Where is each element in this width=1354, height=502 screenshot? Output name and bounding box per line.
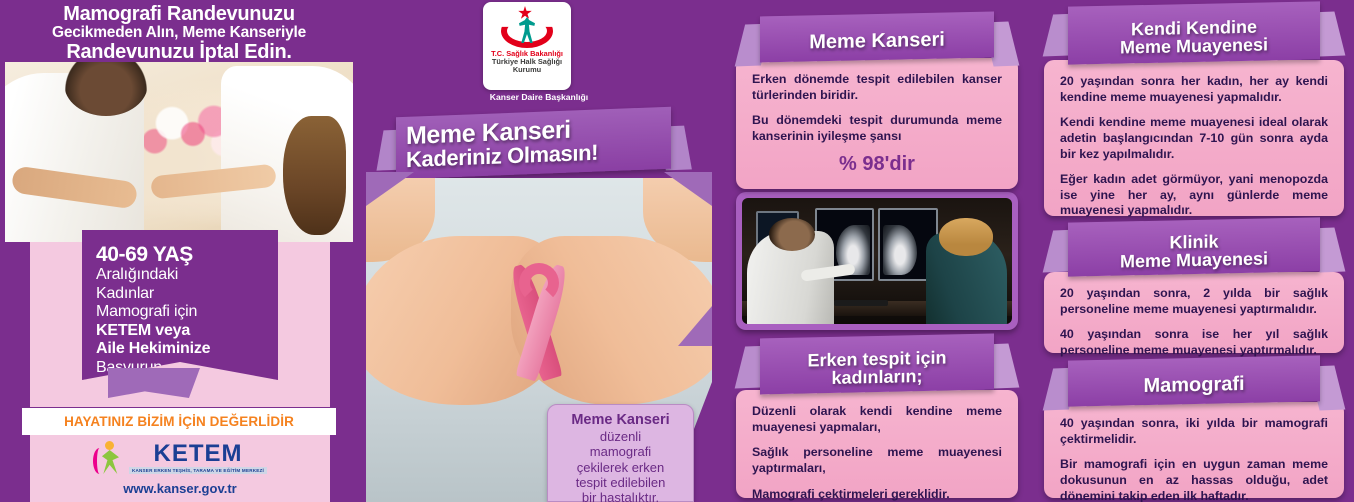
tagline-strip: HAYATINIZ BİZİM İÇİN DEĞERLİDİR: [0, 408, 358, 435]
card-meme-kanseri: Meme Kanseri Erken dönemde tespit edileb…: [736, 14, 1018, 189]
card-paragraph-2: Bir mamografi için en uygun zaman meme d…: [1060, 457, 1328, 502]
poster-root: Mamografi Randevunuzu Gecikmeden Alın, M…: [0, 0, 1354, 502]
tagline-text: HAYATINIZ BİZİM İÇİN DEĞERLİDİR: [64, 414, 294, 429]
age-range-line3: Kadınlar: [96, 285, 278, 304]
card-title: Mamografi: [1068, 359, 1320, 410]
center-note-line1: düzenli: [557, 429, 684, 444]
center-note-line4: tespit edilebilen: [557, 475, 684, 490]
card-mamografi: Mamografi 40 yaşından sonra, iki yılda b…: [1044, 358, 1344, 498]
center-note-line2: mamografi: [557, 444, 684, 459]
left-panel: Mamografi Randevunuzu Gecikmeden Alın, M…: [0, 0, 358, 502]
tagline-edge-right: [336, 408, 358, 435]
card-title-line2: Meme Muayenesi: [1120, 35, 1268, 56]
left-headline: Mamografi Randevunuzu Gecikmeden Alın, M…: [0, 4, 358, 62]
couple-photo: [5, 62, 353, 242]
left-headline-line2: Gecikmeden Alın, Meme Kanseriyle: [0, 25, 358, 41]
card-title: Klinik Meme Muayenesi: [1068, 221, 1320, 280]
center-note-line5: bir hastalıktır.: [557, 490, 684, 502]
left-headline-line3: Randevunuzu İptal Edin.: [0, 42, 358, 62]
mammogram-consult-photo: [736, 192, 1018, 330]
pink-ribbon-icon: [503, 265, 575, 383]
right-section: Meme Kanseri Erken dönemde tespit edileb…: [712, 0, 1354, 502]
left-headline-line1: Mamografi Randevunuzu: [0, 4, 358, 24]
doctor-head: [769, 218, 815, 251]
ketem-wordmark: KETEM KANSER ERKEN TEŞHİS, TARAMA VE EĞİ…: [129, 442, 267, 474]
card-title: Meme Kanseri: [760, 16, 994, 67]
card-paragraph-3: Mamografi çektirmeleri gereklidir.: [752, 487, 1002, 502]
patient-head: [939, 218, 993, 256]
card-body: Erken dönemde tespit edilebilen kanser t…: [736, 58, 1018, 189]
card-body: 20 yaşından sonra, 2 yılda bir sağlık pe…: [1044, 272, 1344, 353]
age-range-line6: Aile Hekiminize: [96, 340, 278, 359]
ketem-name: KETEM: [154, 442, 243, 466]
card-paragraph-1: 40 yaşından sonra, iki yılda bir mamogra…: [1060, 416, 1328, 447]
center-note-line3: çekilerek erken: [557, 460, 684, 475]
card-klinik-meme-muayenesi: Klinik Meme Muayenesi 20 yaşından sonra,…: [1044, 220, 1344, 353]
center-panel: T.C. Sağlık Bakanlığı Türkiye Halk Sağlı…: [366, 0, 712, 502]
card-title-line2: Meme Muayenesi: [1120, 249, 1268, 270]
left-footer: KETEM KANSER ERKEN TEŞHİS, TARAMA VE EĞİ…: [30, 435, 330, 502]
ministry-crescent-star-icon: [498, 6, 556, 48]
ketem-subtitle: KANSER ERKEN TEŞHİS, TARAMA VE EĞİTİM ME…: [129, 467, 267, 474]
card-paragraph-1: 20 yaşından sonra her kadın, her ay kend…: [1060, 74, 1328, 105]
ketem-figure-icon: [93, 441, 123, 475]
keyboard: [834, 300, 888, 306]
left-purple-edge-right: [330, 242, 358, 407]
card-erken-tespit: Erken tespit için kadınların; Düzenli ol…: [736, 336, 1018, 498]
card-body: 20 yaşından sonra her kadın, her ay kend…: [1044, 60, 1344, 216]
card-paragraph-3: Eğer kadın adet görmüyor, yani menopozda…: [1060, 172, 1328, 219]
ketem-url[interactable]: www.kanser.gov.tr: [30, 481, 330, 496]
center-note-title: Meme Kanseri: [557, 413, 684, 429]
center-note-card: Meme Kanseri düzenli mamografi çekilerek…: [547, 404, 694, 502]
card-paragraph-2: 40 yaşından sonra ise her yıl sağlık per…: [1060, 327, 1328, 358]
tagline-edge-left: [0, 408, 22, 435]
card-paragraph-1: Erken dönemde tespit edilebilen kanser t…: [752, 72, 1002, 103]
card-paragraph-1: 20 yaşından sonra, 2 yılda bir sağlık pe…: [1060, 286, 1328, 317]
survival-rate-stat: % 98'dir: [752, 153, 1002, 176]
right-column-a: Meme Kanseri Erken dönemde tespit edileb…: [718, 0, 1030, 502]
department-label: Kanser Daire Başkanlığı: [366, 92, 712, 102]
age-range-line4: Mamografi için: [96, 303, 278, 322]
card-title: Kendi Kendine Meme Muayenesi: [1068, 5, 1320, 68]
ministry-logo-card: T.C. Sağlık Bakanlığı Türkiye Halk Sağlı…: [483, 2, 571, 90]
card-paragraph-1: Düzenli olarak kendi kendine meme muayen…: [752, 404, 1002, 435]
photo-inner: [742, 198, 1012, 324]
left-purple-edge-left: [0, 242, 30, 407]
card-paragraph-2: Bu dönemdeki tespit durumunda meme kanse…: [752, 113, 1002, 144]
age-range-line2: Aralığındaki: [96, 266, 278, 285]
age-range-banner: 40-69 YAŞ Aralığındaki Kadınlar Mamograf…: [82, 230, 278, 380]
woman-hair: [283, 116, 346, 235]
age-range-line5: KETEM veya: [96, 322, 278, 341]
ministry-line3: Kurumu: [513, 66, 541, 74]
card-paragraph-2: Kendi kendine meme muayenesi ideal olara…: [1060, 115, 1328, 162]
card-paragraph-2: Sağlık personeline meme muayenesi yaptır…: [752, 445, 1002, 476]
mammogram-image-left-breast: [883, 225, 917, 275]
card-kendi-kendine-meme-muayenesi: Kendi Kendine Meme Muayenesi 20 yaşından…: [1044, 4, 1344, 216]
age-range-line1: 40-69 YAŞ: [96, 244, 278, 266]
card-body: Düzenli olarak kendi kendine meme muayen…: [736, 390, 1018, 498]
right-column-b: Kendi Kendine Meme Muayenesi 20 yaşından…: [1034, 0, 1354, 502]
ketem-logo: KETEM KANSER ERKEN TEŞHİS, TARAMA VE EĞİ…: [30, 441, 330, 475]
card-body: 40 yaşından sonra, iki yılda bir mamogra…: [1044, 402, 1344, 498]
card-title: Erken tespit için kadınların;: [760, 338, 994, 399]
